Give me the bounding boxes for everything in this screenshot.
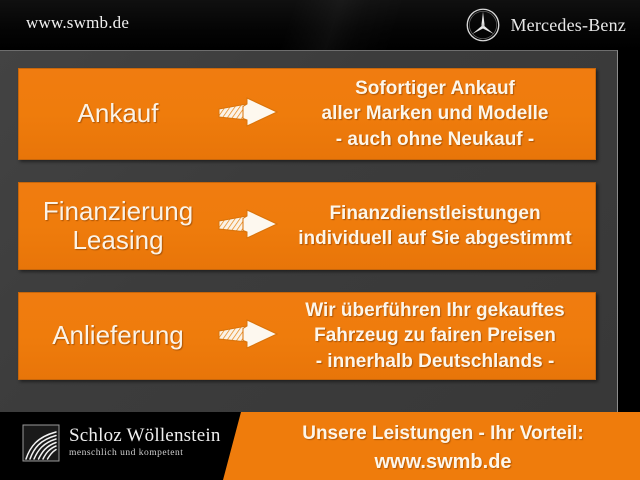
footer-tagline: Unsere Leistungen - Ihr Vorteil: www.swm… [246, 420, 640, 476]
service-arrow [211, 319, 285, 353]
service-description: Wir überführen Ihr gekauftes Fahrzeug zu… [285, 298, 595, 373]
dealer-logo-text: Schloz Wöllenstein menschlich und kompet… [69, 424, 221, 458]
footer-tagline-line1: Unsere Leistungen - Ihr Vorteil: [246, 420, 640, 448]
slide-root: www.swmb.de Mercedes-Benz Ankauf [0, 0, 640, 480]
service-description: Finanzdienstleistungen individuell auf S… [285, 201, 595, 251]
service-bar-anlieferung[interactable]: Anlieferung Wir überführen Ihr gekauftes… [18, 292, 596, 380]
service-bar-finanzierung-leasing[interactable]: Finanzierung Leasing Finanzdienstleistun… [18, 182, 596, 270]
service-bar-ankauf[interactable]: Ankauf Sofortiger Ankauf aller Marken un… [18, 68, 596, 160]
mercedes-benz-logo: Mercedes-Benz [465, 7, 626, 43]
service-arrow [211, 97, 285, 131]
arrow-right-icon [217, 97, 279, 131]
arrow-right-icon [217, 319, 279, 353]
schloz-wollenstein-logo-icon [22, 424, 60, 462]
header-bar: www.swmb.de Mercedes-Benz [0, 0, 640, 50]
dealer-logo: Schloz Wöllenstein menschlich und kompet… [22, 424, 221, 462]
service-description: Sofortiger Ankauf aller Marken und Model… [285, 76, 595, 151]
dealer-name: Schloz Wöllenstein [69, 425, 221, 447]
mercedes-star-icon [465, 7, 501, 43]
service-title: Finanzierung Leasing [19, 197, 211, 255]
header-website-url: www.swmb.de [26, 13, 129, 33]
mercedes-benz-wordmark: Mercedes-Benz [510, 15, 626, 36]
service-title: Anlieferung [19, 321, 211, 350]
footer-tagline-line2: www.swmb.de [246, 448, 640, 476]
service-title: Ankauf [19, 99, 211, 128]
service-arrow [211, 209, 285, 243]
arrow-right-icon [217, 209, 279, 243]
dealer-claim: menschlich und kompetent [69, 448, 221, 458]
